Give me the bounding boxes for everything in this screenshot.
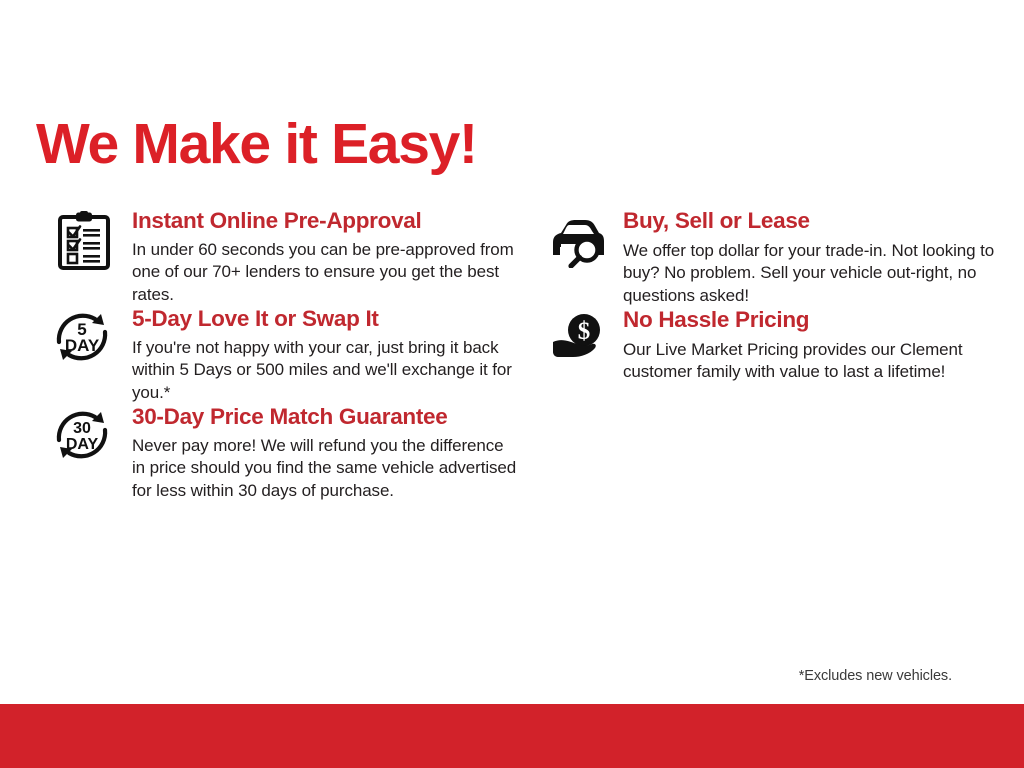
thirty-day-cycle-icon: 30 DAY xyxy=(51,404,113,466)
svg-text:$: $ xyxy=(578,318,591,345)
feature-buy-sell-or-lease: Buy, Sell or Lease We offer top dollar f… xyxy=(545,208,1005,307)
feature-30-day-price-match-guarantee: 30 DAY 30-Day Price Match Guarantee Neve… xyxy=(48,404,518,502)
feature-body: 5-Day Love It or Swap It If you're not h… xyxy=(132,306,518,404)
feature-description: In under 60 seconds you can be pre-appro… xyxy=(132,239,518,307)
clipboard-checklist-icon xyxy=(56,211,118,273)
feature-title: No Hassle Pricing xyxy=(623,307,1005,334)
feature-description: Never pay more! We will refund you the d… xyxy=(132,435,518,503)
feature-instant-online-pre-approval: Instant Online Pre-Approval In under 60 … xyxy=(48,208,518,306)
feature-description: Our Live Market Pricing provides our Cle… xyxy=(623,339,1005,384)
hand-holding-dollar-icon: $ xyxy=(551,311,613,373)
page-title: We Make it Easy! xyxy=(36,115,477,175)
feature-body: No Hassle Pricing Our Live Market Pricin… xyxy=(623,307,1005,384)
five-day-cycle-icon: 5 DAY xyxy=(51,306,113,368)
svg-text:DAY: DAY xyxy=(66,436,99,453)
feature-body: Instant Online Pre-Approval In under 60 … xyxy=(132,208,518,306)
features-column-right: Buy, Sell or Lease We offer top dollar f… xyxy=(545,208,1005,384)
feature-title: Instant Online Pre-Approval xyxy=(132,208,518,235)
feature-no-hassle-pricing: $ No Hassle Pricing Our Live Market Pric… xyxy=(545,307,1005,384)
bottom-red-bar xyxy=(0,704,1024,768)
feature-5-day-love-it-or-swap-it: 5 DAY 5-Day Love It or Swap It If you're… xyxy=(48,306,518,404)
feature-title: Buy, Sell or Lease xyxy=(623,208,1005,235)
feature-description: We offer top dollar for your trade-in. N… xyxy=(623,240,1005,308)
features-column-left: Instant Online Pre-Approval In under 60 … xyxy=(48,208,518,502)
feature-body: Buy, Sell or Lease We offer top dollar f… xyxy=(623,208,1005,307)
feature-body: 30-Day Price Match Guarantee Never pay m… xyxy=(132,404,518,502)
promo-slide: We Make it Easy! xyxy=(0,0,1024,768)
svg-text:30: 30 xyxy=(73,420,91,437)
feature-title: 5-Day Love It or Swap It xyxy=(132,306,518,333)
feature-title: 30-Day Price Match Guarantee xyxy=(132,404,518,431)
footnote-disclaimer: *Excludes new vehicles. xyxy=(799,668,952,684)
car-magnifier-icon xyxy=(549,216,611,278)
feature-description: If you're not happy with your car, just … xyxy=(132,337,518,405)
svg-text:DAY: DAY xyxy=(65,336,100,355)
